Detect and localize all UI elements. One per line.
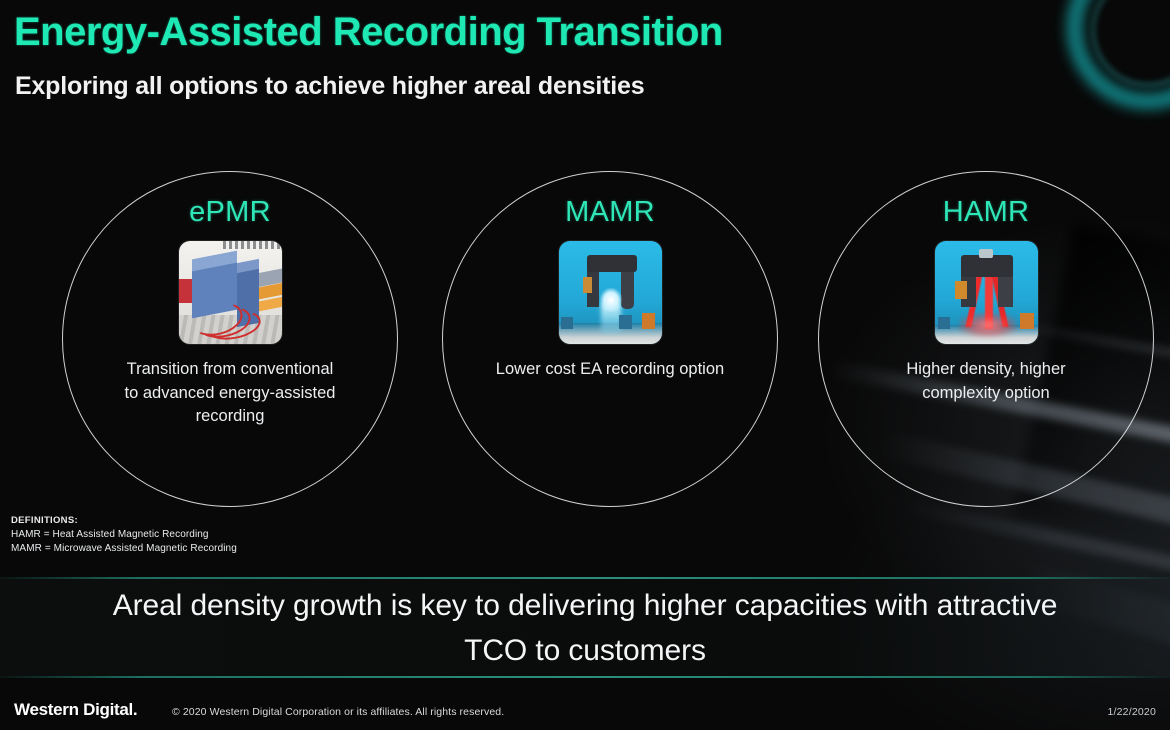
key-message-banner: Areal density growth is key to deliverin… — [0, 579, 1170, 676]
epmr-recording-head-icon — [179, 241, 282, 344]
option-circle-hamr[interactable]: HAMR Higher density, higher complexity o… — [818, 171, 1154, 507]
option-title-hamr: HAMR — [943, 196, 1030, 229]
option-title-epmr: ePMR — [189, 196, 271, 229]
background-light-streak — [899, 498, 1170, 587]
option-caption-mamr: Lower cost EA recording option — [495, 358, 725, 382]
slide-date: 1/22/2020 — [1107, 706, 1156, 718]
page-title: Energy-Assisted Recording Transition — [14, 10, 723, 55]
mamr-recording-head-icon — [559, 241, 662, 344]
page-subtitle: Exploring all options to achieve higher … — [15, 72, 644, 101]
teal-ring-glow-icon — [1068, 0, 1170, 108]
slide-canvas: Energy-Assisted Recording Transition Exp… — [0, 0, 1170, 730]
western-digital-logo: Western Digital. — [14, 700, 137, 720]
option-circle-mamr[interactable]: MAMR Lower cost EA recording option — [442, 171, 778, 507]
definition-hamr: HAMR = Heat Assisted Magnetic Recording — [11, 529, 237, 540]
definitions-block: DEFINITIONS: HAMR = Heat Assisted Magnet… — [11, 515, 237, 554]
copyright-text: © 2020 Western Digital Corporation or it… — [172, 706, 504, 718]
option-circle-epmr[interactable]: ePMR Transition from conventional to adv… — [62, 171, 398, 507]
definition-mamr: MAMR = Microwave Assisted Magnetic Recor… — [11, 543, 237, 554]
option-caption-hamr: Higher density, higher complexity option — [871, 358, 1101, 405]
hamr-recording-head-icon — [935, 241, 1038, 344]
footer-bar — [0, 676, 1170, 730]
option-caption-epmr: Transition from conventional to advanced… — [123, 358, 338, 429]
option-title-mamr: MAMR — [565, 196, 655, 229]
key-message-text: Areal density growth is key to deliverin… — [80, 583, 1090, 673]
definitions-heading: DEFINITIONS: — [11, 515, 237, 526]
teal-ring-inner-icon — [1092, 0, 1170, 86]
